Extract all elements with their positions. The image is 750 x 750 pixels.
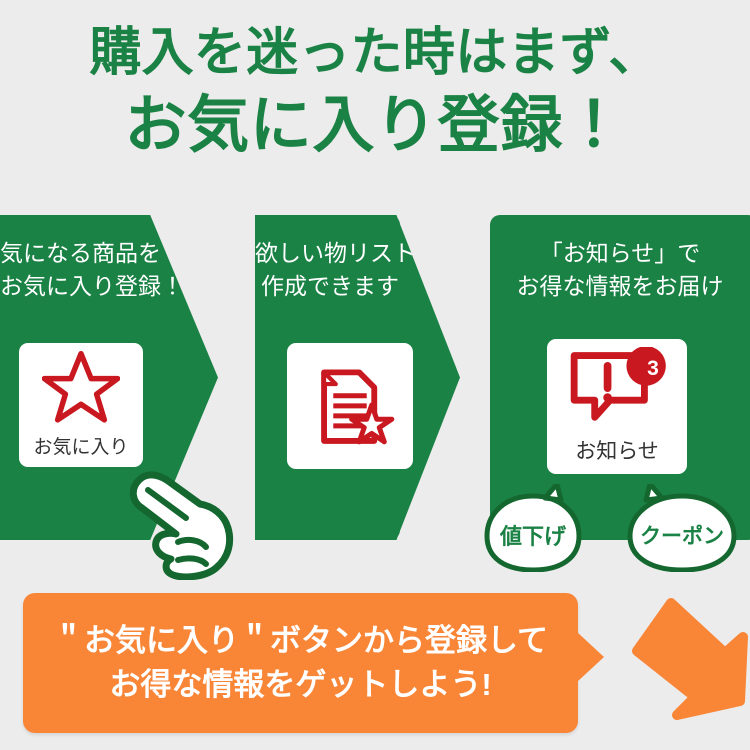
- promo-banner: 購入を迷った時はまず、 お気に入り登録！ 気になる商品を お気に入り登録！ お気…: [0, 0, 750, 750]
- panel-wishlist-text: 欲しい物リスト 作成できます: [255, 237, 405, 302]
- panel-favorite-line-2: お気に入り登録！: [0, 270, 155, 303]
- panel-favorite: 気になる商品を お気に入り登録！ お気に入り: [0, 215, 218, 540]
- cta-callout-tail: [577, 632, 604, 682]
- favorite-card-label: お気に入り: [19, 432, 143, 459]
- cta-line-1: ＂お気に入り＂ボタンから登録して: [53, 619, 548, 663]
- panel-favorite-text: 気になる商品を お気に入り登録！: [0, 237, 155, 302]
- bubble-price-drop-label: 値下げ: [483, 484, 583, 572]
- star-outline-icon: [19, 349, 143, 423]
- favorite-button-card[interactable]: お気に入り: [19, 343, 143, 467]
- bubble-price-drop: 値下げ: [483, 484, 583, 572]
- notice-button-card[interactable]: 3 お知らせ: [547, 339, 687, 474]
- panel-notice-line-1: 「お知らせ」で: [490, 237, 750, 270]
- panel-wishlist-line-1: 欲しい物リスト: [255, 237, 405, 270]
- cta-callout-text: ＂お気に入り＂ボタンから登録して お得な情報をゲットしよう!: [23, 593, 578, 733]
- bubble-coupon-label: クーポン: [626, 484, 738, 572]
- notice-badge-count: 3: [633, 349, 673, 389]
- cta-line-2: お得な情報をゲットしよう!: [109, 663, 491, 707]
- panel-wishlist-line-2: 作成できます: [255, 270, 405, 303]
- panel-notice-text: 「お知らせ」で お得な情報をお届け: [490, 237, 750, 302]
- bubble-coupon: クーポン: [626, 484, 738, 572]
- panel-notice-line-2: お得な情報をお届け: [490, 270, 750, 303]
- notice-card-label: お知らせ: [547, 435, 687, 465]
- document-star-icon: [287, 359, 413, 451]
- headline-line-1: 購入を迷った時はまず、: [0, 26, 750, 81]
- cta-callout: ＂お気に入り＂ボタンから登録して お得な情報をゲットしよう!: [23, 593, 578, 733]
- page-title: 購入を迷った時はまず、 お気に入り登録！: [0, 26, 750, 158]
- panel-wishlist: 欲しい物リスト 作成できます: [255, 215, 460, 540]
- panel-favorite-line-1: 気になる商品を: [0, 237, 155, 270]
- headline-line-2: お気に入り登録！: [0, 93, 750, 158]
- down-right-arrow-icon: [613, 593, 748, 723]
- wishlist-card[interactable]: [287, 343, 413, 469]
